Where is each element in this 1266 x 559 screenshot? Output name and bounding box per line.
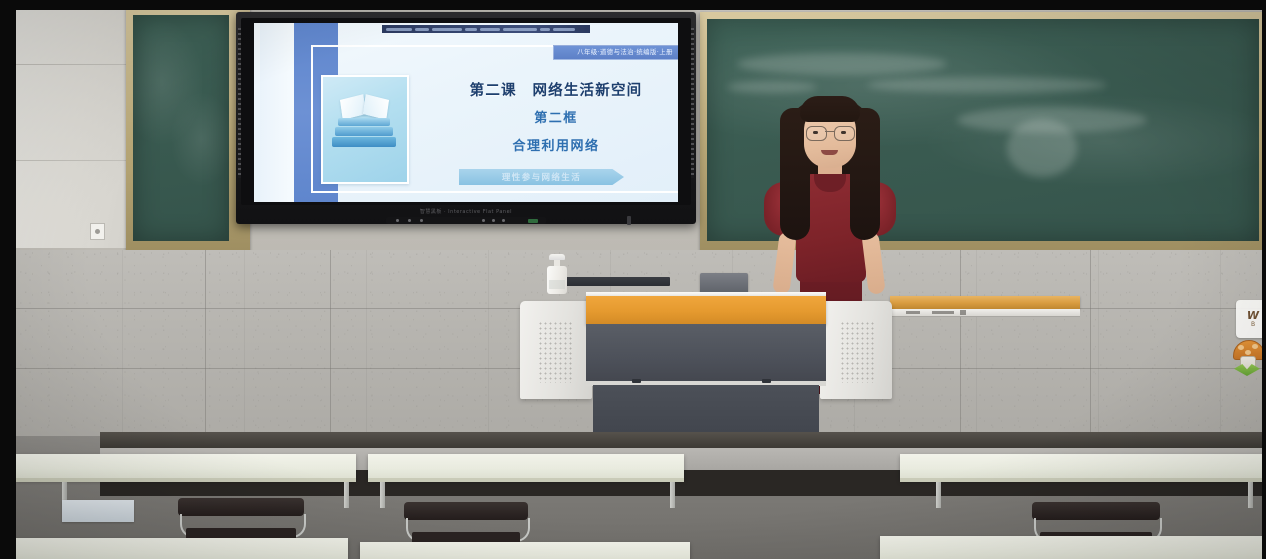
- channel-watermark: W B: [1230, 300, 1266, 385]
- teacher-hair-fringe: [800, 96, 860, 122]
- letterbox-left: [0, 0, 16, 559]
- slide-lesson-title: 第二课 网络生活新空间: [432, 79, 678, 100]
- slide-section-label: 第二框: [432, 107, 678, 126]
- podium-front-upper: [586, 324, 826, 382]
- desk[interactable]: [900, 454, 1266, 480]
- eyeglasses-bridge: [825, 131, 834, 132]
- podium-keyboard-tray[interactable]: [560, 277, 670, 286]
- classroom-video-frame: 八年级·道德与法治·统编版·上册 第二课 网络生活新空间 第二框 合理利用网络 …: [0, 0, 1266, 559]
- desk-leg: [1248, 482, 1253, 508]
- slide-banner-text: 理性参与网络生活: [502, 171, 581, 183]
- floor-step-top: [100, 432, 1266, 448]
- panel-screen-bezel: 八年级·道德与法治·统编版·上册 第二课 网络生活新空间 第二框 合理利用网络 …: [241, 18, 691, 205]
- desk[interactable]: [16, 454, 356, 480]
- classroom-scene: 八年级·道德与法治·统编版·上册 第二课 网络生活新空间 第二框 合理利用网络 …: [0, 8, 1266, 559]
- panel-seam: [16, 160, 126, 161]
- panel-control-strip[interactable]: [386, 217, 546, 224]
- desk[interactable]: [16, 538, 348, 559]
- podium-latch[interactable]: [632, 379, 641, 383]
- book-spine: [335, 127, 393, 136]
- slide-left-highlight: [260, 23, 294, 202]
- podium-desktop: [586, 296, 826, 324]
- slide-app-toolbar[interactable]: [382, 25, 590, 33]
- desk-edge: [900, 478, 1266, 482]
- interactive-flat-panel[interactable]: 八年级·道德与法治·统编版·上册 第二课 网络生活新空间 第二框 合理利用网络 …: [236, 12, 696, 224]
- sanitizer-label: [549, 280, 565, 289]
- chair[interactable]: [178, 498, 304, 542]
- eyeglasses-lens-left: [806, 126, 827, 141]
- slide-topic-title: 合理利用网络: [432, 135, 678, 154]
- presentation-slide[interactable]: 八年级·道德与法治·统编版·上册 第二课 网络生活新空间 第二框 合理利用网络 …: [254, 23, 678, 202]
- wall-white-panel: [16, 8, 126, 248]
- panel-power-button[interactable]: [627, 216, 631, 225]
- podium-side-panel-right: [820, 301, 892, 399]
- letterbox-right: [1262, 0, 1266, 559]
- desk-leg: [344, 482, 349, 508]
- hand-sanitizer-bottle[interactable]: [545, 254, 569, 294]
- panel-power-led: [528, 219, 538, 223]
- open-book-page-right: [363, 94, 389, 120]
- desk[interactable]: [880, 536, 1266, 559]
- desk-edge: [16, 478, 356, 482]
- slide-arrow-banner: 理性参与网络生活: [459, 169, 624, 185]
- watermark-script-text: W: [1247, 310, 1259, 321]
- watermark-sub-text: B: [1251, 321, 1255, 328]
- podium-side-panel-left: [520, 301, 592, 399]
- open-book-page-left: [340, 94, 366, 120]
- book-spine: [338, 118, 390, 126]
- desk-leg: [936, 482, 941, 508]
- panel-brand-label: 智慧黑板 · Interactive Flat Panel: [236, 208, 696, 215]
- paper-sheet[interactable]: [62, 500, 134, 522]
- podium-latch[interactable]: [762, 379, 771, 383]
- wall-switch-plate[interactable]: [90, 223, 105, 240]
- chalkboard-left: [133, 15, 229, 241]
- book-spine: [332, 137, 396, 147]
- speaker-grille-left: [538, 321, 572, 383]
- desk[interactable]: [368, 454, 684, 480]
- chair[interactable]: [404, 502, 528, 546]
- letterbox-top: [0, 0, 1266, 10]
- desk-leg: [670, 482, 675, 508]
- desk-leg: [380, 482, 385, 508]
- chalkboard-left-frame: [126, 8, 250, 262]
- teacher-mouth: [821, 150, 838, 155]
- speaker-grille-right: [840, 321, 874, 383]
- wooden-wall-ledge: [890, 296, 1080, 309]
- panel-seam: [16, 64, 126, 65]
- eyeglasses-lens-right: [834, 126, 855, 141]
- desk[interactable]: [360, 542, 690, 559]
- stack-of-books-illustration: [321, 75, 409, 184]
- desk-edge: [368, 478, 684, 482]
- textbook-tag: 八年级·道德与法治·统编版·上册: [553, 45, 678, 60]
